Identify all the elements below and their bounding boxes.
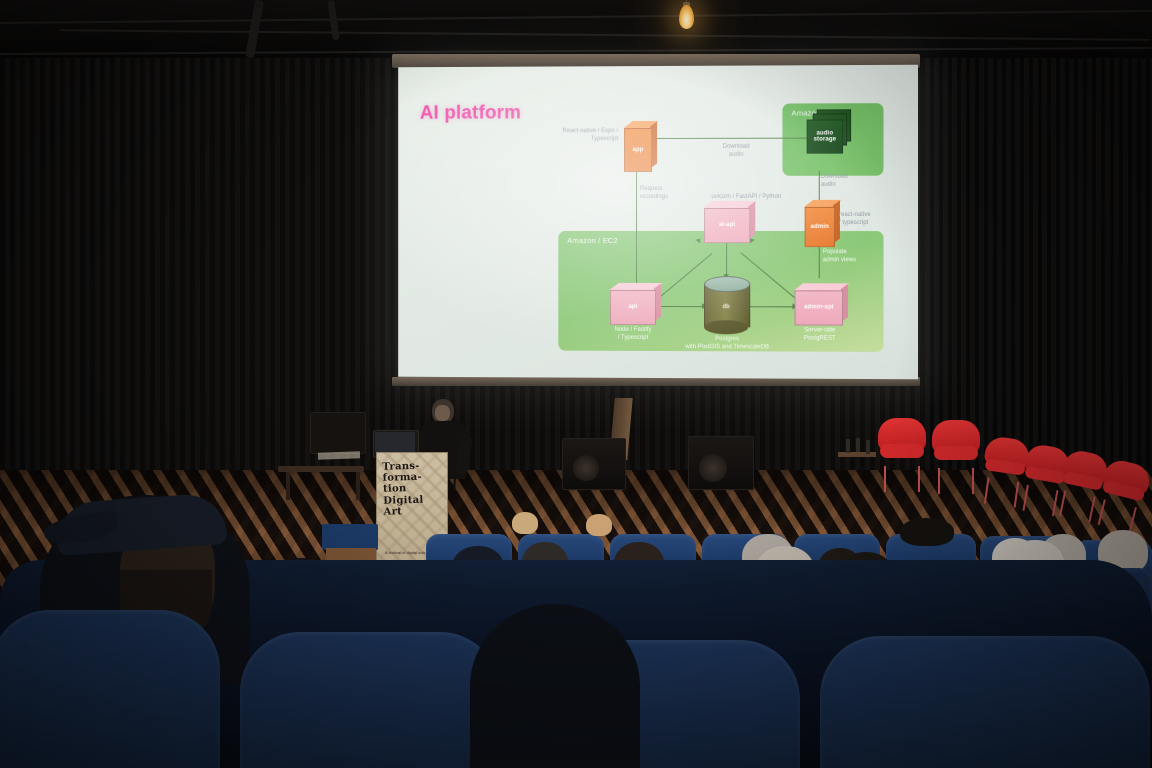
table-leg — [286, 472, 290, 500]
bottle — [866, 440, 870, 454]
edge-adminapi-to-admin — [819, 246, 820, 278]
chair-leg — [884, 466, 886, 492]
node-ai-api-label: ai-api — [704, 208, 750, 243]
floor-speaker-left — [562, 438, 626, 490]
ceiling-truss — [0, 10, 1152, 24]
presenter-face — [435, 405, 450, 421]
node-caption-admin: react-native / typescript — [839, 212, 898, 227]
auditorium-scene: AI platform Amazon / S3 Amazon / EC2 Dow… — [0, 0, 1152, 768]
edge-api-db — [654, 306, 704, 307]
edge-label-download-audio-admin: Download audio — [821, 174, 872, 189]
edison-bulb-icon — [679, 5, 694, 29]
node-caption-api: Node / Fastify / Typescript — [600, 327, 666, 342]
edge-aiapi-db — [726, 241, 727, 277]
audience-head — [900, 518, 954, 546]
slide-content: AI platform Amazon / S3 Amazon / EC2 Dow… — [398, 65, 918, 380]
side-table — [838, 452, 876, 457]
node-admin-label: admin — [805, 207, 835, 247]
node-audio-storage-label: audio storage — [807, 119, 843, 153]
audience-head — [586, 514, 612, 536]
edge-api-to-app — [636, 171, 637, 291]
projection-screen: AI platform Amazon / S3 Amazon / EC2 Dow… — [398, 65, 918, 380]
node-app[interactable]: app — [624, 128, 650, 170]
node-api[interactable]: api — [610, 290, 654, 323]
edge-label-populate-admin-views: Populate admin views — [823, 249, 874, 264]
node-db[interactable]: db — [704, 276, 748, 334]
node-audio-storage[interactable]: audio storage — [807, 119, 841, 151]
stage-table — [278, 466, 364, 472]
node-db-bottom — [704, 320, 748, 334]
node-caption-db: Postgres with PostGIS and TimescaleDB — [682, 336, 772, 351]
edge-db-adminapi — [748, 306, 794, 307]
foreground-seat — [820, 636, 1150, 768]
foreground-seat — [0, 610, 220, 768]
stage-papers — [318, 451, 360, 459]
node-api-label: api — [610, 290, 656, 325]
laptop-screen — [375, 432, 415, 452]
node-admin-api[interactable]: admin-api — [795, 290, 841, 323]
ceiling-pipe — [245, 0, 264, 58]
node-caption-app: React-native / Expo / Typescript — [546, 128, 618, 143]
red-chair — [932, 420, 980, 472]
chair-leg — [918, 466, 920, 492]
group-label-ec2: Amazon / EC2 — [567, 236, 618, 245]
red-chair — [878, 418, 926, 470]
node-ai-api[interactable]: ai-api — [704, 208, 748, 241]
node-db-top — [704, 276, 750, 292]
slide-title: AI platform — [420, 103, 521, 125]
foreground-audience-head — [470, 604, 640, 768]
table-leg — [356, 472, 360, 500]
bottle — [846, 439, 850, 453]
node-admin-api-label: admin-api — [795, 290, 843, 325]
chair-leg — [972, 468, 974, 494]
node-db-label: db — [704, 304, 748, 310]
edge-label-download-audio-app: Download audio — [706, 144, 766, 159]
chair-leg — [938, 468, 940, 494]
floor-speaker-right — [688, 436, 754, 490]
blue-amp-case — [322, 524, 378, 550]
bottle — [856, 438, 860, 452]
node-app-label: app — [624, 128, 652, 172]
foreground-seat — [240, 632, 500, 768]
ceiling — [0, 0, 1152, 62]
audience-head — [512, 512, 538, 534]
node-caption-admin-api: Server-side PostgREST — [786, 327, 853, 342]
speaker-cone — [573, 455, 599, 481]
poster-headline: Trans- forma- tion Digital Art — [382, 460, 441, 517]
chair-seat — [880, 444, 924, 458]
ceiling-truss — [60, 29, 1150, 41]
node-admin[interactable]: admin — [805, 207, 833, 245]
stage-monitor — [310, 412, 366, 454]
speaker-cone — [699, 454, 727, 482]
chair-seat — [934, 446, 978, 460]
